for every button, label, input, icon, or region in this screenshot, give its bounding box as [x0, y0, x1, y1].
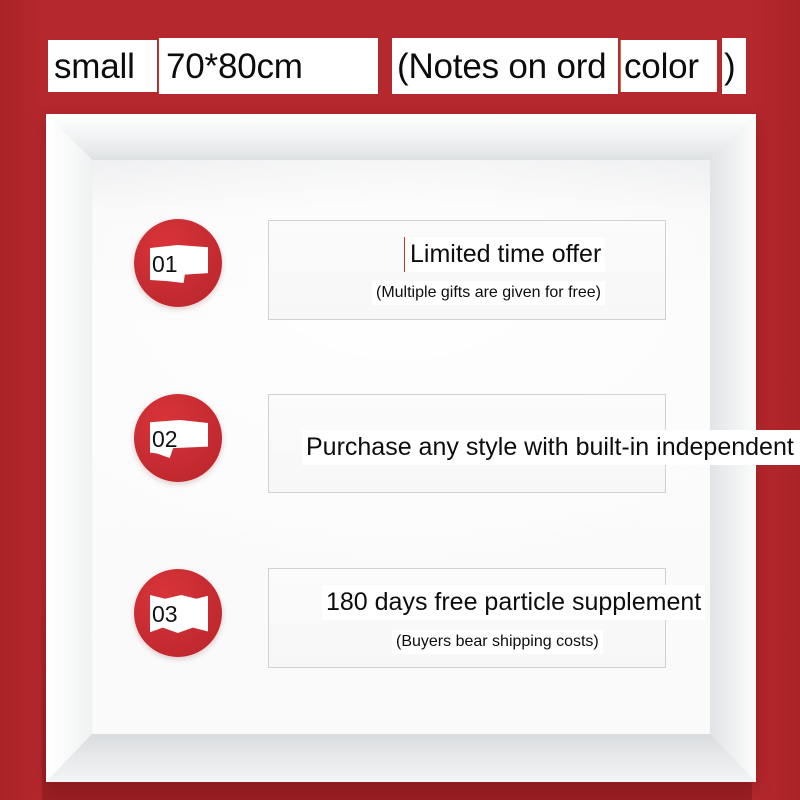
item-title: Limited time offer: [404, 237, 605, 272]
badge-number: 03: [152, 598, 178, 630]
item-badge: 02: [134, 394, 222, 482]
item-badge: 01: [134, 219, 222, 307]
badge-number: 02: [152, 423, 178, 455]
badge-number: 01: [152, 248, 178, 280]
panel-content: 01 02 03 Limited time offer (Multiple gi…: [0, 0, 800, 800]
item-subtitle: (Multiple gifts are given for free): [372, 281, 605, 305]
item-title: Purchase any style with built-in indepen…: [302, 430, 800, 465]
item-subtitle: (Buyers bear shipping costs): [392, 630, 603, 654]
item-title: 180 days free particle supplement: [322, 585, 705, 620]
item-badge: 03: [134, 569, 222, 657]
